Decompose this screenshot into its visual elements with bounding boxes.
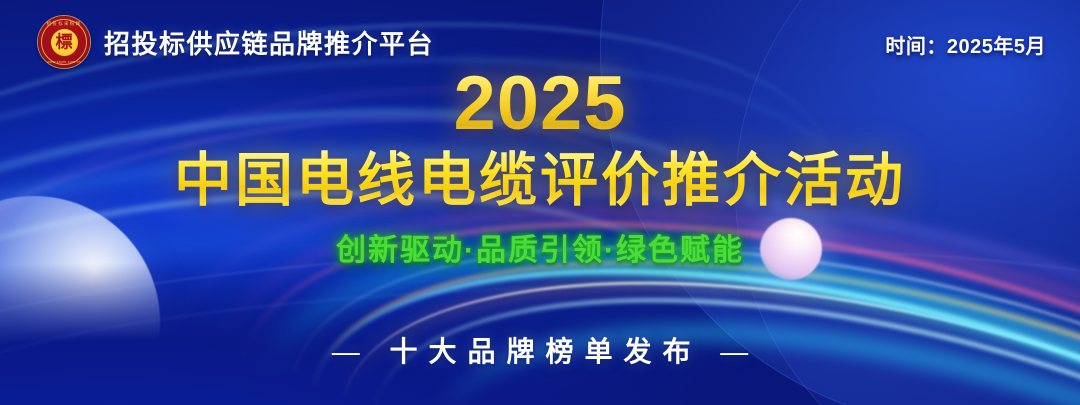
hero-block: 2025 中国电线电缆评价推介活动 创新驱动·品质引领·绿色赋能 <box>0 66 1080 269</box>
footer-headline: 十大品牌榜单发布 <box>389 336 701 367</box>
platform-name: 招投标供应链品牌推介平台 <box>104 24 434 61</box>
dash-right: — <box>720 336 759 367</box>
logo-glyph: 標 <box>56 34 73 51</box>
event-date: 时间：2025年5月 <box>885 30 1046 59</box>
event-title: 中国电线电缆评价推介活动 <box>0 150 1080 213</box>
banner-content: 招投标采购网 標 www.zbytb.com.cn 招投标供应链品牌推介平台 时… <box>0 0 1080 405</box>
logo-arc-text: 招投标采购网 <box>38 21 90 27</box>
event-banner: 招投标采购网 標 www.zbytb.com.cn 招投标供应链品牌推介平台 时… <box>0 0 1080 405</box>
event-year: 2025 <box>0 66 1080 142</box>
platform-branding: 招投标采购网 標 www.zbytb.com.cn 招投标供应链品牌推介平台 <box>38 16 434 68</box>
footer-headline-row: — 十大品牌榜单发布 — <box>0 330 1080 370</box>
dash-left: — <box>332 336 371 367</box>
event-slogan: 创新驱动·品质引领·绿色赋能 <box>0 225 1080 269</box>
logo-url-text: www.zbytb.com.cn <box>38 60 90 64</box>
platform-logo-icon: 招投标采购网 標 www.zbytb.com.cn <box>38 16 90 68</box>
